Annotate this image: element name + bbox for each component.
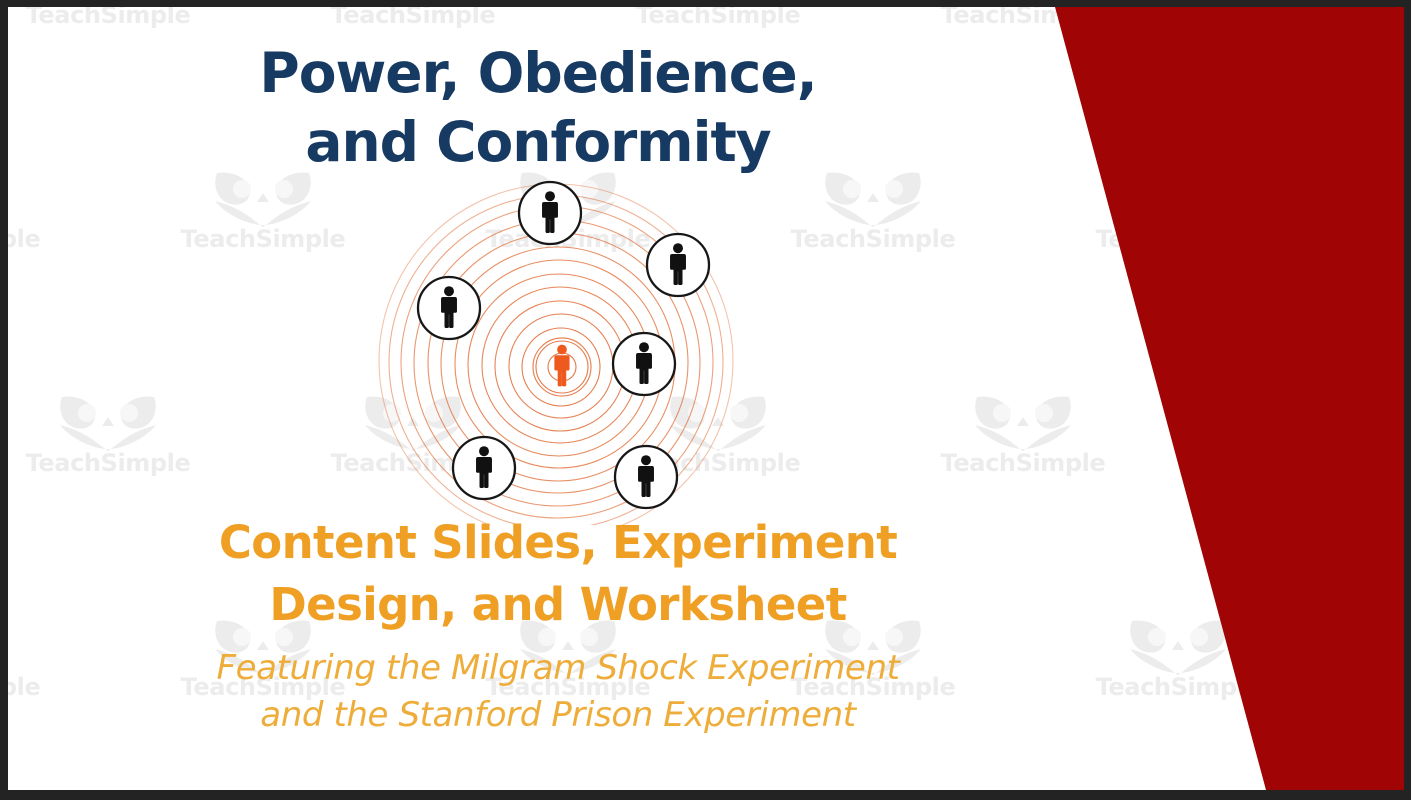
slide-tagline: Featuring the Milgram Shock Experiment a…: [8, 645, 1108, 739]
person-icon-black: [453, 437, 515, 499]
screenshot-frame: TeachSimpleTeachSimpleTeachSimpleTeachSi…: [0, 0, 1411, 800]
slide-content: Power, Obedience, and Conformity: [8, 7, 1404, 790]
person-icon-black: [613, 333, 675, 395]
slide-subtitle: Content Slides, Experiment Design, and W…: [8, 512, 1108, 636]
person-icon-orange: [533, 338, 591, 396]
conformity-ripple-diagram: [378, 175, 742, 525]
slide-title: Power, Obedience, and Conformity: [8, 39, 1068, 178]
person-icon-black: [519, 182, 581, 244]
person-icon-black: [418, 277, 480, 339]
ripple-diagram-svg: [378, 175, 742, 525]
presentation-slide: TeachSimpleTeachSimpleTeachSimpleTeachSi…: [8, 7, 1404, 790]
person-icon-black: [615, 446, 677, 508]
person-icon-black: [647, 234, 709, 296]
